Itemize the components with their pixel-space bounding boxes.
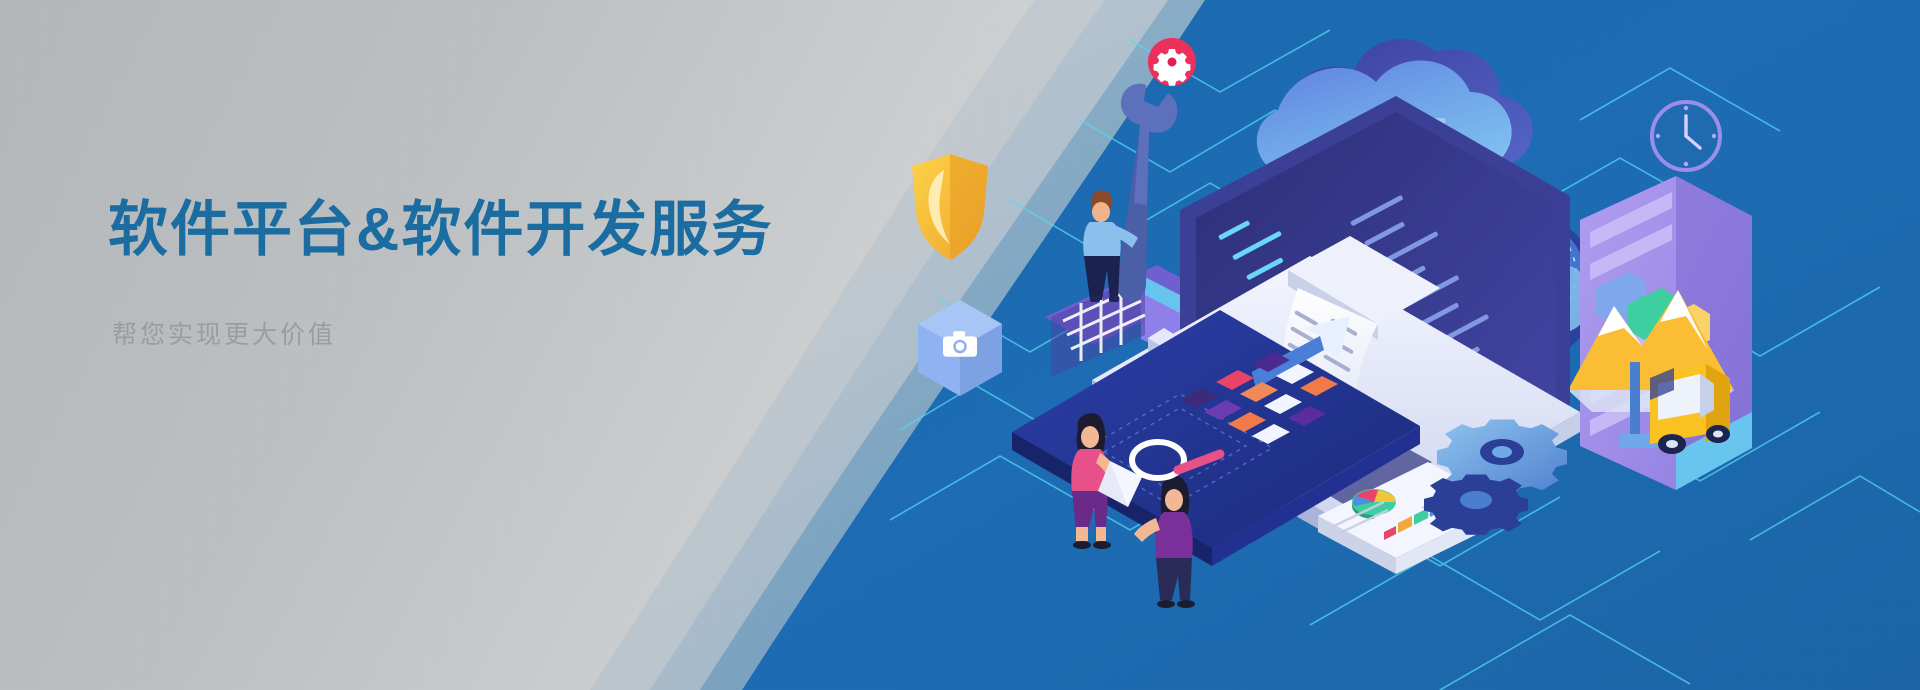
camera-icon [918,300,1002,396]
gear-badge-icon [1148,38,1196,86]
page-title: 软件平台&软件开发服务 [108,196,928,263]
banner-copy: 软件平台&软件开发服务 帮您实现更大价值 [108,196,928,351]
page-subtitle: 帮您实现更大价值 [108,263,928,351]
forklift-icon [1620,362,1730,454]
wrench-icon [1117,84,1177,302]
shield-icon [912,154,988,260]
hero-illustration: NEWS [880,0,1920,690]
hero-banner: 软件平台&软件开发服务 帮您实现更大价值 [0,0,1920,690]
clock-icon [1652,102,1720,170]
